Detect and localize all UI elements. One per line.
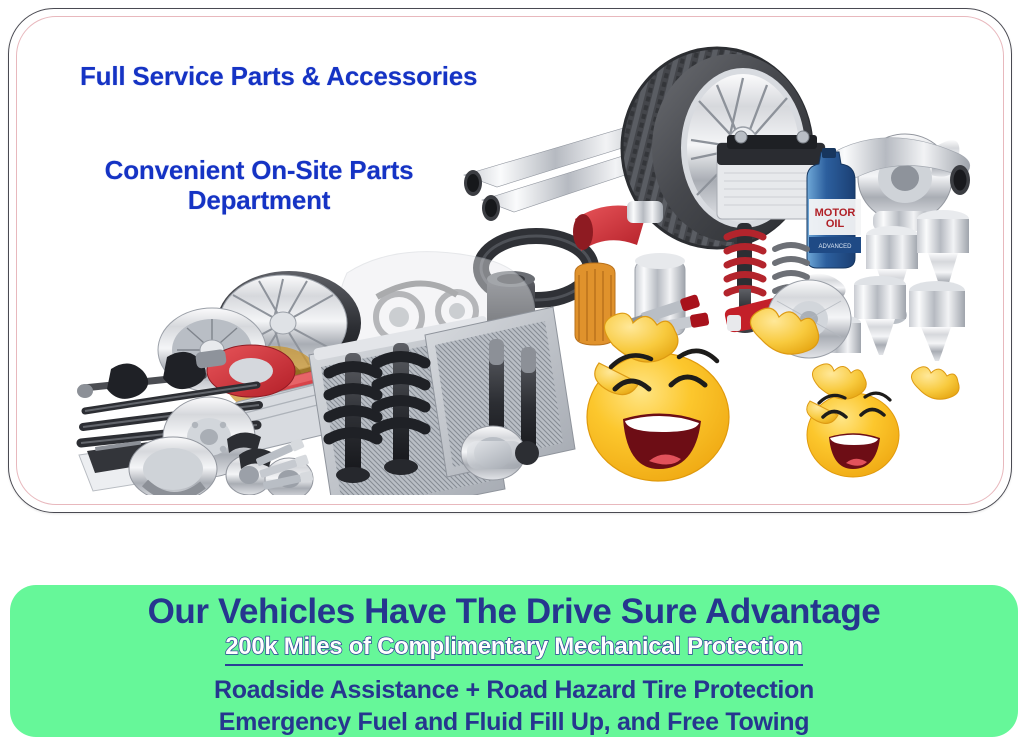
banner-benefit-line-2: Emergency Fuel and Fluid Fill Up, and Fr… [10,706,1018,737]
auto-parts-collage: MOTOR OIL ADVANCED [27,23,995,495]
brake-drum-shoes [129,437,217,495]
svg-text:ADVANCED: ADVANCED [819,244,853,250]
banner-subtitle: 200k Miles of Complimentary Mechanical P… [225,633,802,666]
subheading-on-site-parts: Convenient On-Site Parts Department [72,155,446,215]
laughing-emoji-small [807,364,959,477]
drive-sure-advantage-banner: Our Vehicles Have The Drive Sure Advanta… [10,585,1018,737]
banner-subtitle-row: 200k Miles of Complimentary Mechanical P… [10,633,1018,666]
promo-card: MOTOR OIL ADVANCED [8,8,1012,513]
svg-text:OIL: OIL [826,218,845,230]
laughing-emoji-large [587,308,819,481]
banner-benefit-line-1: Roadside Assistance + Road Hazard Tire P… [10,674,1018,706]
page-title: Full Service Parts & Accessories [80,61,477,91]
cone-air-filter [573,201,663,251]
banner-title: Our Vehicles Have The Drive Sure Advanta… [10,591,1018,632]
